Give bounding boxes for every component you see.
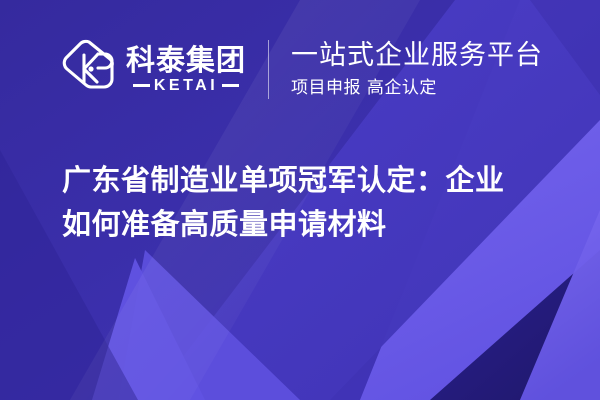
tagline-secondary: 项目申报 高企认定 xyxy=(291,78,543,98)
promo-banner: 科泰集团 KETAI 一站式企业服务平台 项目申报 高企认定 广东省制造业单项冠… xyxy=(0,0,600,400)
brand-logo: 科泰集团 KETAI xyxy=(60,38,246,100)
brand-name-en: KETAI xyxy=(154,77,218,94)
brand-wordmark: 科泰集团 KETAI xyxy=(126,45,246,94)
header-divider xyxy=(268,40,269,99)
banner-header: 科泰集团 KETAI 一站式企业服务平台 项目申报 高企认定 xyxy=(60,38,543,100)
ketai-diamond-kp-mark-icon xyxy=(60,38,118,100)
wordmark-rule-right xyxy=(222,84,239,87)
tagline-block: 一站式企业服务平台 项目申报 高企认定 xyxy=(291,40,543,98)
headline-line-1: 广东省制造业单项冠军认定：企业 xyxy=(62,158,562,202)
wordmark-rule-left xyxy=(133,84,150,87)
brand-name-cn: 科泰集团 xyxy=(126,45,246,75)
headline-block: 广东省制造业单项冠军认定：企业 如何准备高质量申请材料 xyxy=(62,158,562,246)
brand-name-en-row: KETAI xyxy=(126,77,246,94)
headline-line-2: 如何准备高质量申请材料 xyxy=(62,202,562,246)
tagline-primary: 一站式企业服务平台 xyxy=(291,40,543,72)
